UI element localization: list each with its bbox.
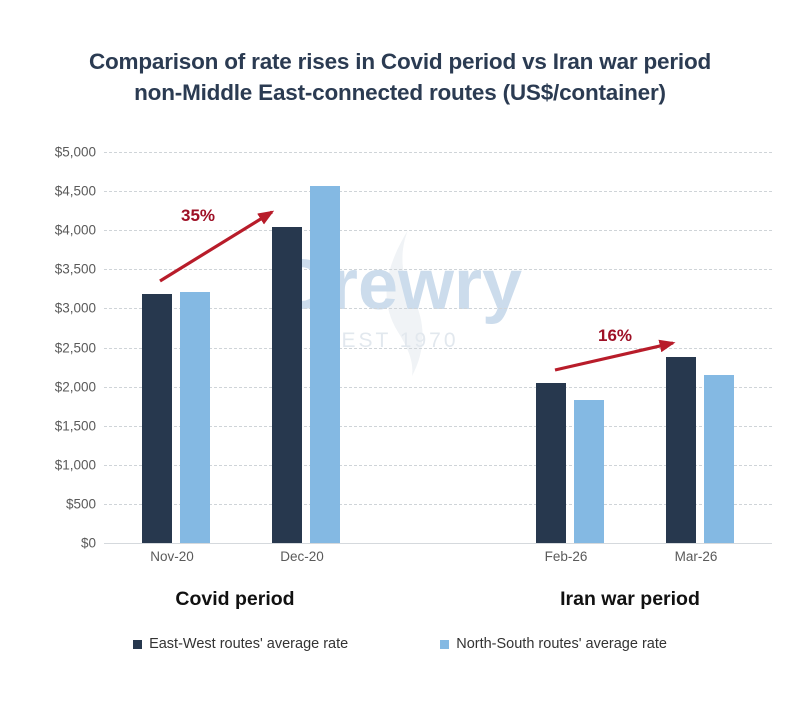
chart-title: Comparison of rate rises in Covid period… bbox=[0, 46, 800, 108]
chart-title-line-1: Comparison of rate rises in Covid period… bbox=[89, 49, 711, 74]
y-axis-tick: $4,500 bbox=[6, 184, 96, 199]
x-axis-tick-mar-26: Mar-26 bbox=[641, 549, 751, 564]
gridline bbox=[104, 152, 772, 153]
legend-item-north-south[interactable]: North-South routes' average rate bbox=[440, 636, 667, 652]
x-axis-tick-nov-20: Nov-20 bbox=[117, 549, 227, 564]
period-label-iran-war: Iran war period bbox=[505, 588, 755, 611]
gridline bbox=[104, 269, 772, 270]
y-axis-tick: $5,000 bbox=[6, 145, 96, 160]
bar-ew-dec-20[interactable] bbox=[272, 227, 302, 543]
gridline bbox=[104, 230, 772, 231]
bar-ns-dec-20[interactable] bbox=[310, 186, 340, 543]
chart-container: Comparison of rate rises in Covid period… bbox=[0, 0, 800, 709]
y-axis-tick: $3,000 bbox=[6, 301, 96, 316]
bar-ew-nov-20[interactable] bbox=[142, 294, 172, 543]
y-axis-tick: $500 bbox=[6, 496, 96, 511]
period-label-covid: Covid period bbox=[110, 588, 360, 611]
y-axis-tick: $2,500 bbox=[6, 340, 96, 355]
annotation-label-35-percent: 35% bbox=[181, 206, 215, 226]
y-axis-tick: $1,500 bbox=[6, 418, 96, 433]
bar-ew-feb-26[interactable] bbox=[536, 383, 566, 543]
annotation-label-16-percent: 16% bbox=[598, 326, 632, 346]
legend-label-east-west: East-West routes' average rate bbox=[149, 636, 348, 652]
legend-label-north-south: North-South routes' average rate bbox=[456, 636, 667, 652]
legend-swatch-icon-east-west bbox=[133, 640, 142, 649]
y-axis-tick: $1,000 bbox=[6, 457, 96, 472]
y-axis-tick: $3,500 bbox=[6, 262, 96, 277]
y-axis-tick: $2,000 bbox=[6, 379, 96, 394]
bar-ns-nov-20[interactable] bbox=[180, 292, 210, 543]
x-axis-tick-feb-26: Feb-26 bbox=[511, 549, 621, 564]
bar-ew-mar-26[interactable] bbox=[666, 357, 696, 543]
legend-swatch-icon-north-south bbox=[440, 640, 449, 649]
legend-item-east-west[interactable]: East-West routes' average rate bbox=[133, 636, 348, 652]
bar-ns-feb-26[interactable] bbox=[574, 400, 604, 543]
y-axis: $5,000 $4,500 $4,000 $3,500 $3,000 $2,50… bbox=[0, 152, 96, 543]
y-axis-tick: $4,000 bbox=[6, 223, 96, 238]
x-axis-line bbox=[104, 543, 772, 544]
y-axis-tick: $0 bbox=[6, 536, 96, 551]
gridline bbox=[104, 191, 772, 192]
x-axis-tick-dec-20: Dec-20 bbox=[247, 549, 357, 564]
bar-ns-mar-26[interactable] bbox=[704, 375, 734, 543]
legend: East-West routes' average rate North-Sou… bbox=[0, 636, 800, 652]
chart-title-line-2: non-Middle East-connected routes (US$/co… bbox=[0, 77, 800, 108]
